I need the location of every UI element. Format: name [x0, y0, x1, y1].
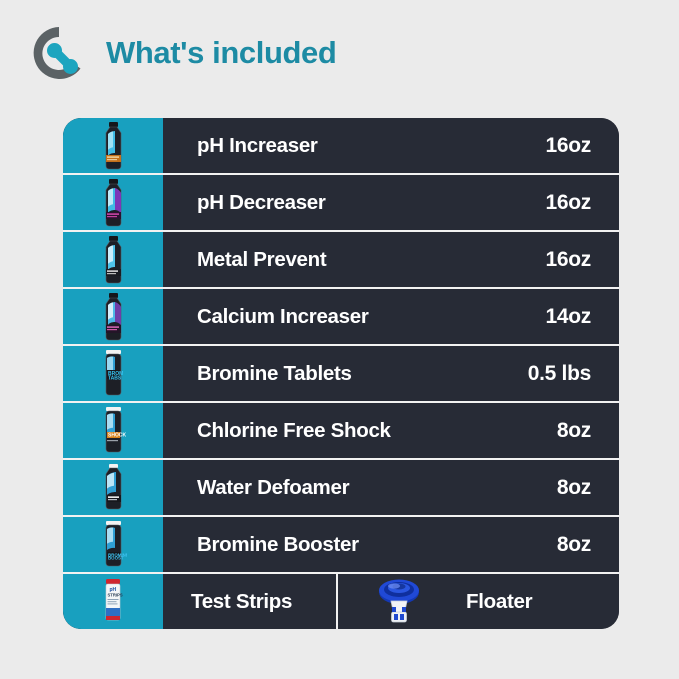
page-header: What's included	[28, 22, 336, 84]
clarity-molecule-logo-icon	[28, 22, 90, 84]
table-row: Water Defoamer 8oz	[63, 460, 619, 517]
item-image-cell	[63, 175, 163, 230]
item-qty: 16oz	[546, 248, 592, 272]
item-label-cell: Metal Prevent	[163, 232, 479, 287]
item-image-cell	[63, 118, 163, 173]
item-name: pH Decreaser	[197, 191, 326, 215]
item-label-cell: Bromine Booster	[163, 517, 479, 572]
item-image-cell	[63, 232, 163, 287]
item-name: Bromine Booster	[197, 533, 359, 557]
item-name: pH Increaser	[197, 134, 318, 158]
floater-cell: Floater	[338, 574, 619, 629]
item-name: Test Strips	[191, 590, 292, 614]
item-qty-cell: 0.5 lbs	[479, 346, 619, 401]
item-image-cell: SHOCK	[63, 403, 163, 458]
item-image-cell: BROM TABS	[63, 346, 163, 401]
table-row: BROMINE BOOST Bromine Booster 8oz	[63, 517, 619, 574]
table-row: Metal Prevent 16oz	[63, 232, 619, 289]
svg-text:BOOST: BOOST	[108, 555, 124, 560]
item-qty: 8oz	[557, 476, 591, 500]
item-label-cell: Bromine Tablets	[163, 346, 479, 401]
item-qty: 16oz	[546, 191, 592, 215]
item-qty: 14oz	[546, 305, 592, 329]
bottle-test-strips-icon: pH STRIPS	[100, 579, 126, 625]
table-row: pH Increaser 16oz	[63, 118, 619, 175]
bottle-ph-decreaser-icon	[100, 179, 127, 227]
svg-text:STRIPS: STRIPS	[108, 592, 123, 597]
item-qty: 8oz	[557, 419, 591, 443]
item-name: Chlorine Free Shock	[197, 419, 391, 443]
svg-text:SHOCK: SHOCK	[108, 432, 126, 438]
item-qty-cell: 16oz	[479, 175, 619, 230]
item-label-cell: Calcium Increaser	[163, 289, 479, 344]
bottle-bromine-tablets-icon: BROM TABS	[100, 350, 127, 398]
page-title: What's included	[106, 35, 336, 71]
item-qty-cell: 14oz	[479, 289, 619, 344]
table-row: Calcium Increaser 14oz	[63, 289, 619, 346]
table-row: BROM TABS Bromine Tablets 0.5 lbs	[63, 346, 619, 403]
item-qty: 16oz	[546, 134, 592, 158]
bottle-calcium-increaser-icon	[100, 293, 127, 341]
table-row: pH Decreaser 16oz	[63, 175, 619, 232]
item-qty: 0.5 lbs	[528, 362, 591, 386]
item-image-cell	[63, 460, 163, 515]
item-image-cell: pH STRIPS	[63, 574, 163, 629]
item-name: Metal Prevent	[197, 248, 326, 272]
item-image-cell: BROMINE BOOST	[63, 517, 163, 572]
item-qty-cell: 8oz	[479, 403, 619, 458]
item-name: Calcium Increaser	[197, 305, 369, 329]
item-qty: 8oz	[557, 533, 591, 557]
svg-text:TABS: TABS	[108, 375, 122, 381]
item-label-cell: Chlorine Free Shock	[163, 403, 479, 458]
item-qty-cell: 16oz	[479, 118, 619, 173]
bottle-chlorine-free-shock-icon: SHOCK	[100, 407, 127, 455]
item-label-cell: Water Defoamer	[163, 460, 479, 515]
item-name: Water Defoamer	[197, 476, 349, 500]
item-qty-cell: 16oz	[479, 232, 619, 287]
item-label-cell: Test Strips	[163, 574, 336, 629]
item-image-cell	[63, 289, 163, 344]
bottle-metal-prevent-icon	[100, 236, 127, 284]
chlorine-floater-icon	[372, 576, 426, 628]
table-row-split: pH STRIPS Test Strips	[63, 574, 619, 629]
item-qty-cell: 8oz	[479, 517, 619, 572]
item-name: Bromine Tablets	[197, 362, 352, 386]
item-label-cell: pH Decreaser	[163, 175, 479, 230]
table-row: SHOCK Chlorine Free Shock 8oz	[63, 403, 619, 460]
floater-name: Floater	[466, 590, 532, 614]
item-label-cell: pH Increaser	[163, 118, 479, 173]
bottle-ph-increaser-icon	[100, 122, 127, 170]
item-qty-cell: 8oz	[479, 460, 619, 515]
bottle-water-defoamer-icon	[100, 464, 127, 512]
included-items-table: pH Increaser 16oz pH Decreaser 16oz	[63, 118, 619, 629]
bottle-bromine-booster-icon: BROMINE BOOST	[100, 521, 127, 569]
